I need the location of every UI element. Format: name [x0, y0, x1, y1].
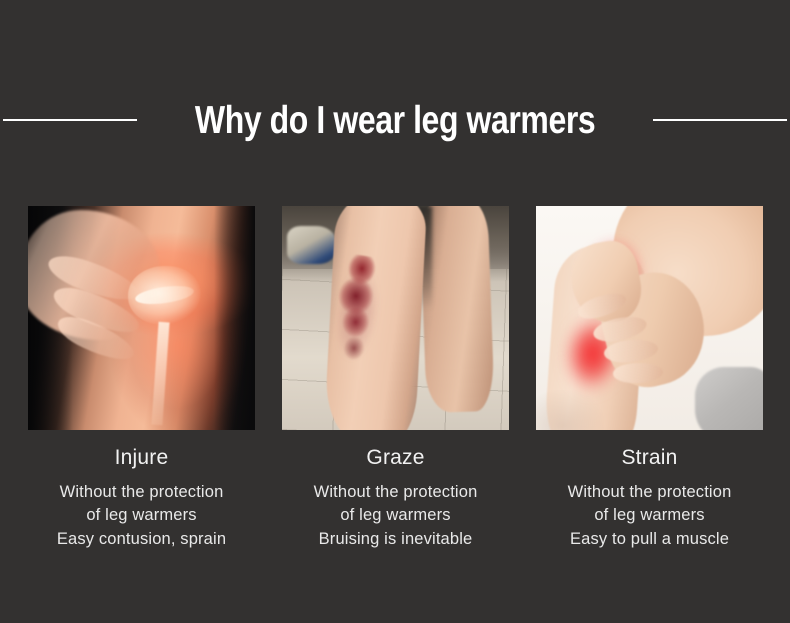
feature-card-strain: Strain Without the protection of leg war… [536, 206, 763, 551]
calf-muscle-strain-photo [536, 206, 763, 430]
card-description: Without the protection of leg warmers Ea… [57, 481, 226, 551]
title-rule-right [653, 119, 787, 121]
ankle-shadow [536, 390, 604, 430]
knee-injury-xray-photo [28, 206, 255, 430]
shin-bone-highlight [152, 322, 171, 426]
feature-card-injure: Injure Without the protection of leg war… [28, 206, 255, 551]
card-heading: Strain [621, 447, 677, 468]
promo-poster: Why do I wear leg warmers Injure Without… [0, 0, 790, 623]
photo-shadow-right [214, 206, 255, 430]
page-title: Why do I wear leg warmers [195, 101, 595, 140]
feature-card-row: Injure Without the protection of leg war… [28, 206, 763, 551]
title-rule-left [3, 119, 137, 121]
card-heading: Graze [366, 447, 424, 468]
card-description: Without the protection of leg warmers Br… [314, 481, 478, 551]
card-description: Without the protection of leg warmers Ea… [568, 481, 732, 551]
leg-graze-wound-photo [282, 206, 509, 430]
feature-card-graze: Graze Without the protection of leg warm… [282, 206, 509, 551]
shorts-shape [695, 367, 763, 430]
shoe-shape [287, 226, 337, 264]
title-banner: Why do I wear leg warmers [0, 92, 790, 148]
card-heading: Injure [115, 447, 169, 468]
